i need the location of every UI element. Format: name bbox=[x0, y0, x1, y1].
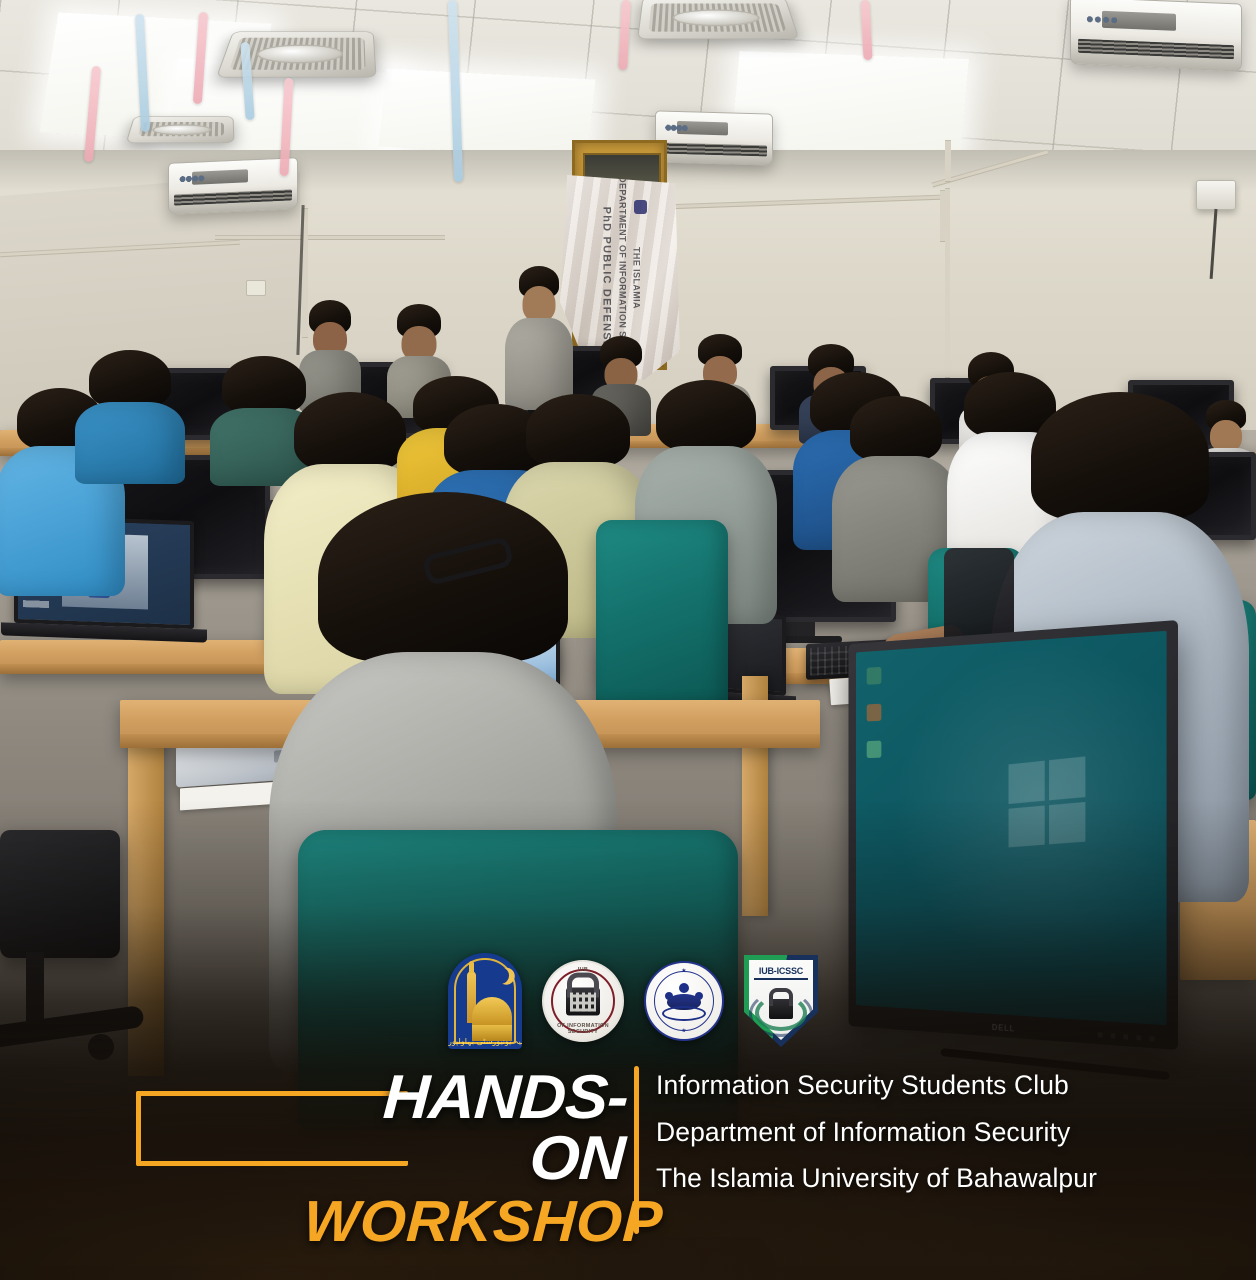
windows-logo-icon bbox=[1009, 756, 1086, 847]
wall-power-socket bbox=[1196, 180, 1236, 210]
seated-person bbox=[78, 350, 182, 470]
hair bbox=[656, 380, 756, 452]
padlock-icon bbox=[566, 988, 600, 1016]
hair bbox=[526, 394, 630, 468]
padlock-icon bbox=[769, 999, 793, 1019]
headline-line-1: HANDS-ON bbox=[294, 1068, 629, 1190]
seal-bottom-text: OF INFORMATION SECURITY bbox=[544, 1023, 622, 1035]
foreground-monitor: DELL bbox=[848, 620, 1178, 1050]
hair bbox=[850, 396, 942, 462]
iub-urdu-caption: اسلامیہ یونیورسٹی بہاولپور bbox=[448, 1037, 522, 1046]
split-ac-unit bbox=[1070, 0, 1242, 72]
banner-line-1: THE ISLAMIA bbox=[631, 247, 641, 309]
workshop-poster: THE ISLAMIA DEPARTMENT OF INFORMATION SE… bbox=[0, 0, 1256, 1280]
chair bbox=[596, 520, 728, 710]
desktop-icons bbox=[867, 666, 893, 778]
desktop-icon bbox=[867, 704, 882, 722]
org-line-club: Information Security Students Club bbox=[656, 1062, 1156, 1109]
iub-icssc-logo: IUB-ICSSC bbox=[744, 955, 818, 1047]
hair bbox=[89, 350, 171, 408]
desktop-icon bbox=[867, 741, 882, 759]
hair bbox=[294, 392, 406, 472]
cassette-ac-unit bbox=[637, 0, 799, 39]
standing-instructor bbox=[506, 266, 572, 406]
monitor-brand-label: DELL bbox=[992, 1022, 1015, 1033]
banner-line-3: PhD PUBLIC DEFENSE bbox=[601, 206, 613, 349]
icssc-label: IUB-ICSSC bbox=[747, 966, 815, 980]
ac-louver bbox=[661, 143, 768, 157]
ac-louver bbox=[174, 189, 292, 205]
people-globe-icon bbox=[662, 983, 706, 1019]
head bbox=[523, 286, 556, 322]
wall-conduit bbox=[945, 188, 950, 378]
split-ac-unit bbox=[168, 157, 298, 215]
ac-indicator-lights bbox=[179, 174, 205, 183]
organization-block: Information Security Students Club Depar… bbox=[656, 1062, 1156, 1202]
wall-conduit bbox=[945, 140, 951, 182]
chair-caster bbox=[88, 1034, 114, 1060]
office-chair-back bbox=[0, 830, 120, 958]
cassette-ac-unit bbox=[216, 31, 377, 77]
split-ac-unit bbox=[655, 110, 773, 165]
ac-indicator-lights bbox=[1085, 14, 1119, 26]
ceiling-light-panel bbox=[378, 68, 595, 157]
torso bbox=[75, 402, 185, 484]
org-line-department: Department of Information Security bbox=[656, 1109, 1156, 1156]
ac-center-hub bbox=[151, 124, 212, 135]
backpack bbox=[944, 548, 1014, 646]
dept-information-security-logo: IUB OF INFORMATION SECURITY bbox=[542, 960, 624, 1042]
seal-bottom-text: ★ bbox=[646, 1028, 722, 1034]
ac-louver bbox=[1078, 39, 1234, 60]
hair bbox=[1031, 392, 1209, 520]
ac-center-hub bbox=[254, 45, 343, 64]
wall-conduit bbox=[215, 235, 445, 240]
wall-junction-box bbox=[246, 280, 266, 296]
logo-strip: اسلامیہ یونیورسٹی بہاولپور IUB OF INFORM… bbox=[448, 953, 818, 1049]
seal-top-text: ★ bbox=[646, 968, 722, 974]
desktop-icon bbox=[867, 667, 882, 685]
iub-crest-logo: اسلامیہ یونیورسٹی بہاولپور bbox=[448, 953, 522, 1049]
directorate-student-affairs-logo: ★ ★ bbox=[644, 961, 724, 1041]
ac-indicator-lights bbox=[665, 124, 688, 133]
org-line-university: The Islamia University of Bahawalpur bbox=[656, 1155, 1156, 1202]
vertical-divider bbox=[634, 1066, 639, 1234]
headline-line-2: WORKSHOP bbox=[302, 1192, 627, 1251]
headline-block: HANDS-ON WORKSHOP bbox=[310, 1068, 626, 1251]
monitor-desktop-screen bbox=[856, 631, 1167, 1025]
